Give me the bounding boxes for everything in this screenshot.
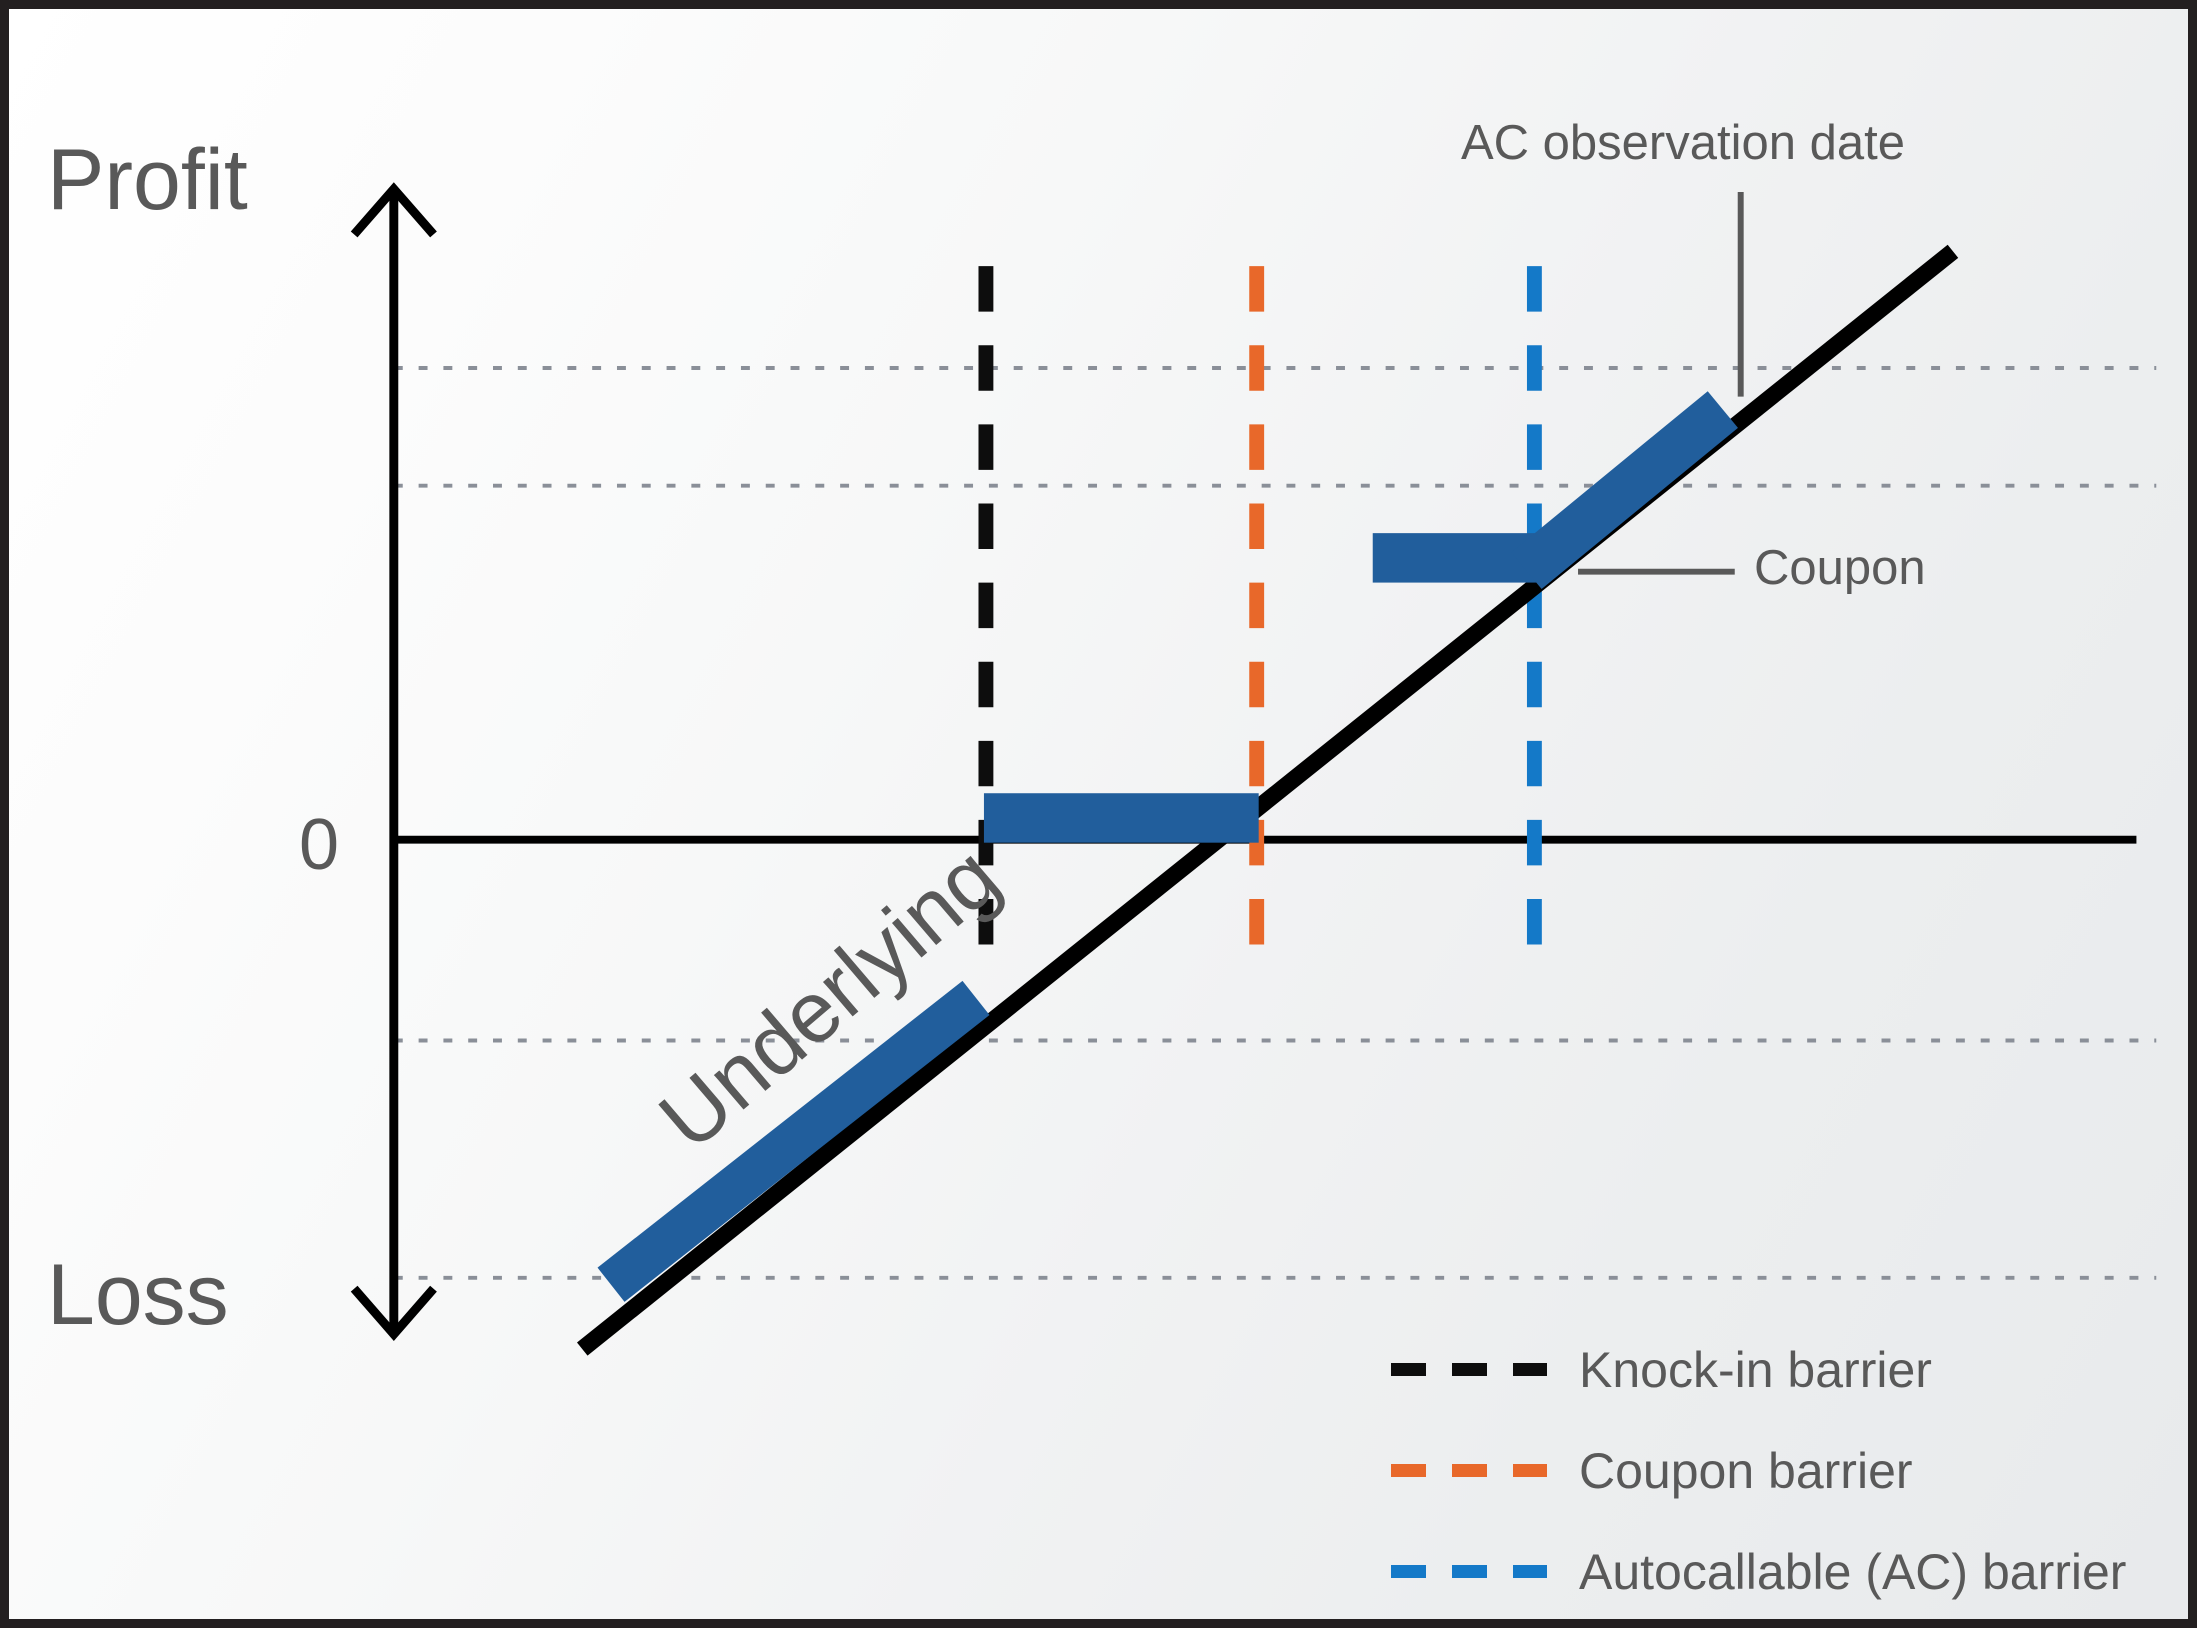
- legend-label-knock-in-barrier: Knock-in barrier: [1579, 1345, 1932, 1395]
- axis-label-loss: Loss: [47, 1252, 229, 1338]
- payoff-flat-lower: [984, 793, 1259, 842]
- legend-label-ac-barrier: Autocallable (AC) barrier: [1579, 1547, 2126, 1597]
- gridlines: [394, 368, 2156, 1278]
- underlying-line: [582, 251, 1953, 1349]
- y-axis: [354, 189, 433, 1334]
- axis-label-profit: Profit: [47, 137, 248, 223]
- legend: Knock-in barrier Coupon barrier Autocall…: [1391, 1319, 2181, 1622]
- legend-item-ac-barrier: Autocallable (AC) barrier: [1391, 1521, 2181, 1622]
- legend-item-knock-in-barrier: Knock-in barrier: [1391, 1319, 2181, 1420]
- payoff-upside-segment: [1526, 410, 1722, 571]
- payoff-diagram: Profit Loss 0 AC observation date Coupon…: [0, 0, 2197, 1628]
- legend-label-coupon-barrier: Coupon barrier: [1579, 1446, 1913, 1496]
- legend-item-coupon-barrier: Coupon barrier: [1391, 1420, 2181, 1521]
- coupon-barrier-swatch-icon: [1391, 1464, 1547, 1477]
- axis-tick-zero: 0: [299, 809, 339, 881]
- knock-in-barrier-swatch-icon: [1391, 1363, 1547, 1376]
- annotation-ac-observation-date: AC observation date: [1461, 119, 1905, 168]
- ac-barrier-swatch-icon: [1391, 1565, 1547, 1578]
- annotation-coupon: Coupon: [1754, 544, 1926, 593]
